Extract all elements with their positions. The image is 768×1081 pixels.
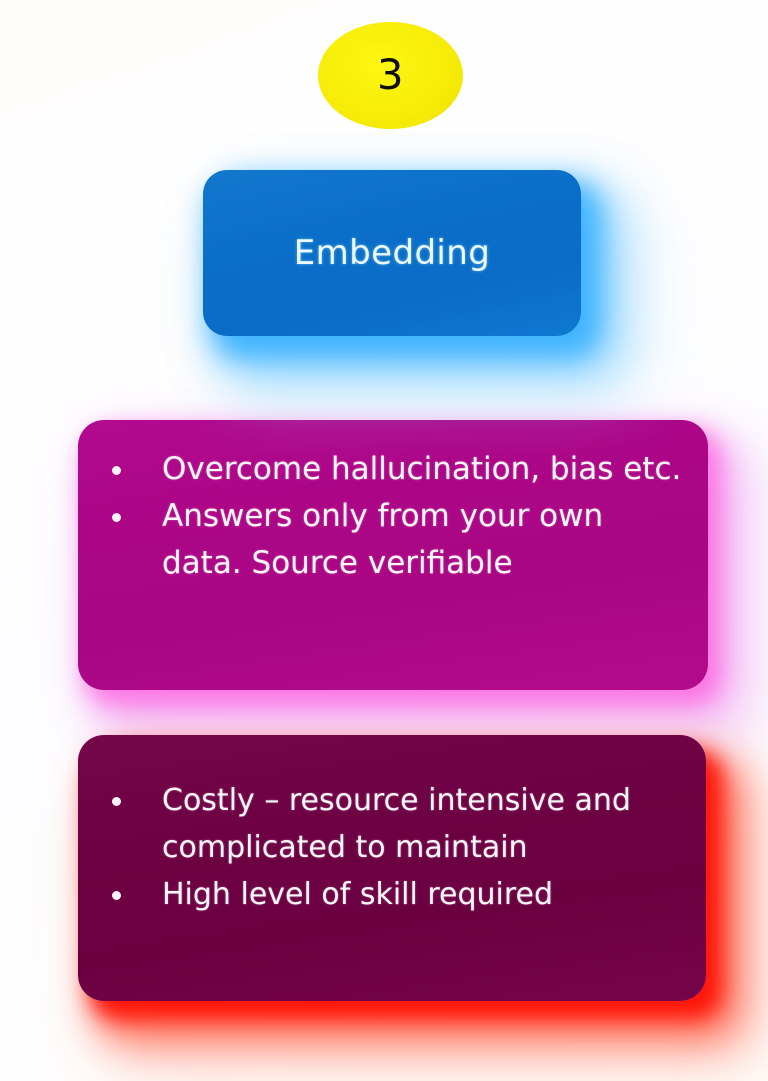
pros-card: Overcome hallucination, bias etc. Answer…	[78, 420, 708, 690]
pros-bullet-list: Overcome hallucination, bias etc. Answer…	[78, 446, 682, 587]
step-badge-number: 3	[377, 54, 404, 96]
list-item: Costly – resource intensive and complica…	[78, 777, 680, 871]
title-card-label: Embedding	[294, 233, 490, 273]
list-item: Answers only from your own data. Source …	[78, 493, 682, 587]
slide-canvas: 3 Embedding Overcome hallucination, bias…	[0, 0, 768, 1081]
cons-bullet-list: Costly – resource intensive and complica…	[78, 777, 680, 918]
list-item: Overcome hallucination, bias etc.	[78, 446, 682, 493]
cons-card: Costly – resource intensive and complica…	[78, 735, 706, 1001]
step-badge: 3	[318, 22, 463, 129]
list-item: High level of skill required	[78, 871, 680, 918]
title-card-embedding[interactable]: Embedding	[203, 170, 581, 336]
